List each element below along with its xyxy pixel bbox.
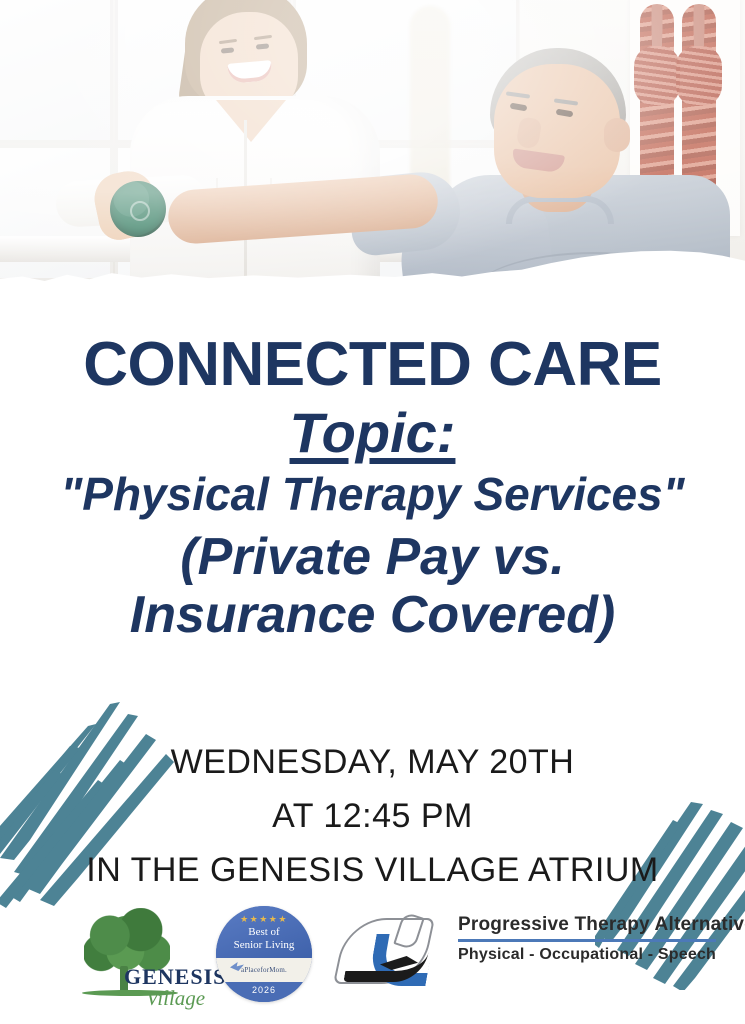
genesis-village-logo: GENESIS Village [62, 902, 222, 1014]
event-venue: IN THE GENESIS VILLAGE ATRIUM [0, 843, 745, 897]
patient-collar [506, 196, 614, 224]
event-flyer: CONNECTED CARE Topic: "Physical Therapy … [0, 0, 745, 1024]
badge-year-band: 2026 [216, 982, 312, 1002]
badge-year: 2026 [216, 985, 312, 995]
topic-subtitle-line2: Insurance Covered) [0, 586, 745, 644]
headline-block: CONNECTED CARE Topic: "Physical Therapy … [0, 330, 745, 644]
topic-title: "Physical Therapy Services" [0, 466, 745, 522]
patient-ear [604, 118, 630, 152]
logo-row: GENESIS Village ★★★★★ Best ofSenior Livi… [0, 900, 745, 1024]
best-of-senior-living-badge: ★★★★★ Best ofSenior Living aPlaceforMom.… [216, 906, 312, 1002]
badge-title: Best ofSenior Living [216, 926, 312, 952]
badge-top: ★★★★★ Best ofSenior Living [216, 906, 312, 958]
village-wordmark: Village [146, 986, 205, 1011]
dumbbell-icon [110, 181, 166, 237]
pta-swoosh-icon [336, 912, 448, 994]
topic-subtitle-line1: (Private Pay vs. [0, 528, 745, 586]
patient-face [494, 64, 620, 198]
pta-name: Progressive Therapy Alternatives [458, 914, 716, 936]
page-title: CONNECTED CARE [0, 330, 745, 400]
topic-subtitle: (Private Pay vs. Insurance Covered) [0, 528, 745, 644]
badge-brand-band: aPlaceforMom. [216, 958, 312, 982]
event-date: WEDNESDAY, MAY 20TH [0, 735, 745, 789]
topic-label: Topic: [0, 402, 745, 464]
window-pane [0, 0, 110, 140]
pta-wordmark: Progressive Therapy Alternatives Physica… [458, 914, 716, 964]
event-details: WEDNESDAY, MAY 20TH AT 12:45 PM IN THE G… [0, 735, 745, 897]
pta-divider [458, 939, 716, 942]
hero-photo [0, 0, 745, 300]
progressive-therapy-alternatives-logo: Progressive Therapy Alternatives Physica… [336, 908, 716, 1000]
pta-services: Physical - Occupational - Speech [458, 946, 716, 964]
event-time: AT 12:45 PM [0, 789, 745, 843]
five-stars-icon: ★★★★★ [216, 914, 312, 924]
